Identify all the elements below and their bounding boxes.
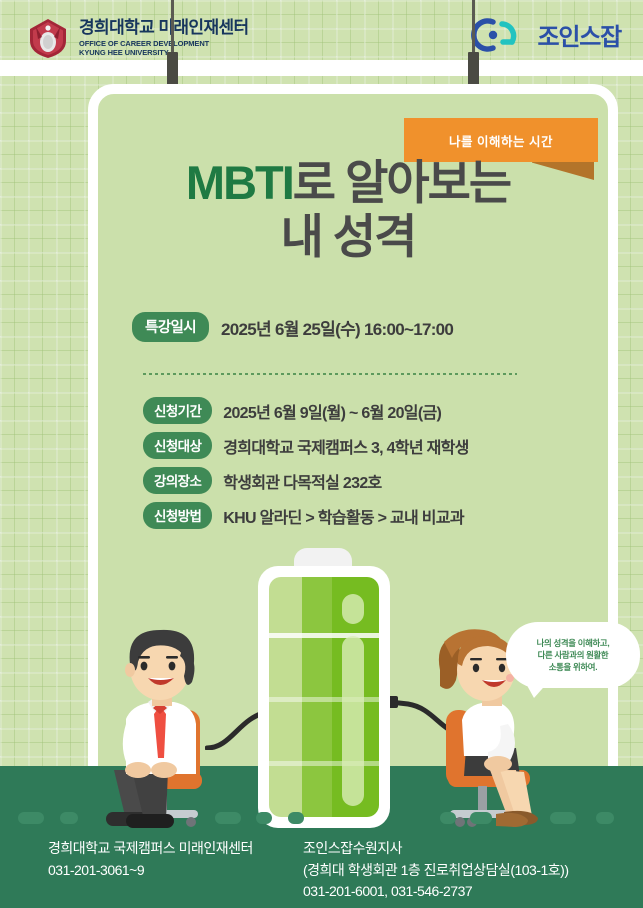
info-row-how-to-apply: 신청방법 KHU 알라딘 > 학습활동 > 교내 비교과 [143,502,469,529]
floor-dot [470,812,492,824]
info-row-target-audience: 신청대상 경희대학교 국제캠퍼스 3, 4학년 재학생 [143,432,469,459]
lecture-datetime-badge: 특강일시 [132,312,209,342]
footer-right-column: 조인스잡수원지사 (경희대 학생회관 1층 진로취업상담실(103-1호)) 0… [303,838,569,903]
header-white-strip [0,60,643,76]
title-line-2: 내 성격 [98,211,598,263]
footer-left-line-1: 경희대학교 국제캠퍼스 미래인재센터 [48,838,253,860]
floor-dot [440,812,456,824]
footer-left-column: 경희대학교 국제캠퍼스 미래인재센터 031-201-3061~9 [48,838,253,881]
info-badge: 신청방법 [143,502,212,529]
khu-logo-english-line2: KYUNG HEE UNIVERSITY [79,48,249,57]
joinsjob-c-mark-icon [469,14,531,54]
khu-logo-english: OFFICE OF CAREER DEVELOPMENT KYUNG HEE U… [79,39,249,57]
joinsjob-logo-text: 조인스잡 [537,17,621,52]
floor-dot [288,812,304,824]
seated-man-icon [96,624,276,836]
battery-highlight-stripe [342,636,364,806]
battery-body [258,566,390,828]
footer-left-line-2: 031-201-3061~9 [48,860,253,882]
speech-bubble-line-1: 나의 성격을 이해하고, [537,637,610,649]
poster-title: MBTI로 알아보는 내 성격 [98,158,598,263]
speech-bubble-line-2: 다른 사람과의 원활한 [537,649,610,661]
info-row-location: 강의장소 학생회관 다목적실 232호 [143,467,469,494]
logo-row: 경희대학교 미래인재센터 OFFICE OF CAREER DEVELOPMEN… [0,0,643,60]
info-row-application-period: 신청기간 2025년 6월 9일(월) ~ 6월 20일(금) [143,397,469,424]
battery-charging-icon [258,548,390,828]
info-value: 경희대학교 국제캠퍼스 3, 4학년 재학생 [223,434,468,458]
dotted-divider [143,373,517,375]
floor-dot [256,812,272,824]
info-value: 2025년 6월 9일(월) ~ 6월 20일(금) [223,399,441,423]
khu-crest-icon [26,17,70,59]
info-badge: 신청기간 [143,397,212,424]
info-value: KHU 알라딘 > 학습활동 > 교내 비교과 [223,504,464,528]
speech-bubble-line-3: 소통을 위하여. [537,661,610,673]
battery-highlight-dot [342,594,364,624]
khu-logo-text: 경희대학교 미래인재센터 OFFICE OF CAREER DEVELOPMEN… [79,19,249,57]
poster-root: 경희대학교 미래인재센터 OFFICE OF CAREER DEVELOPMEN… [0,0,643,908]
speech-bubble: 나의 성격을 이해하고, 다른 사람과의 원활한 소통을 위하여. [506,622,640,688]
floor-dot-row [0,812,643,826]
footer-right-line-1: 조인스잡수원지사 [303,838,569,860]
footer-right-line-2: (경희대 학생회관 1층 진로취업상담실(103-1호)) [303,860,569,882]
info-list: 신청기간 2025년 6월 9일(월) ~ 6월 20일(금) 신청대상 경희대… [143,397,469,529]
info-badge: 신청대상 [143,432,212,459]
floor-dot [550,812,576,824]
floor-dot [18,812,44,824]
floor-dot [596,812,614,824]
lecture-datetime-value: 2025년 6월 25일(수) 16:00~17:00 [221,315,453,340]
title-mbti-highlight: MBTI [186,156,293,209]
floor-dot [60,812,78,824]
khu-logo: 경희대학교 미래인재센터 OFFICE OF CAREER DEVELOPMEN… [26,17,249,59]
khu-logo-korean: 경희대학교 미래인재센터 [79,19,249,37]
speech-bubble-text: 나의 성격을 이해하고, 다른 사람과의 원활한 소통을 위하여. [537,637,610,674]
info-badge: 강의장소 [143,467,212,494]
info-value: 학생회관 다목적실 232호 [223,469,381,493]
lecture-datetime-row: 특강일시 2025년 6월 25일(수) 16:00~17:00 [132,312,453,342]
battery-divider [269,633,379,638]
footer: 경희대학교 국제캠퍼스 미래인재센터 031-201-3061~9 조인스잡수원… [0,838,643,908]
joinsjob-logo: 조인스잡 [469,14,621,54]
title-line-1: MBTI로 알아보는 [98,158,598,207]
khu-logo-english-line1: OFFICE OF CAREER DEVELOPMENT [79,39,249,48]
title-line-1-rest: 로 알아보는 [293,156,510,209]
floor-dot [215,812,241,824]
footer-right-line-3: 031-201-6001, 031-546-2737 [303,881,569,903]
